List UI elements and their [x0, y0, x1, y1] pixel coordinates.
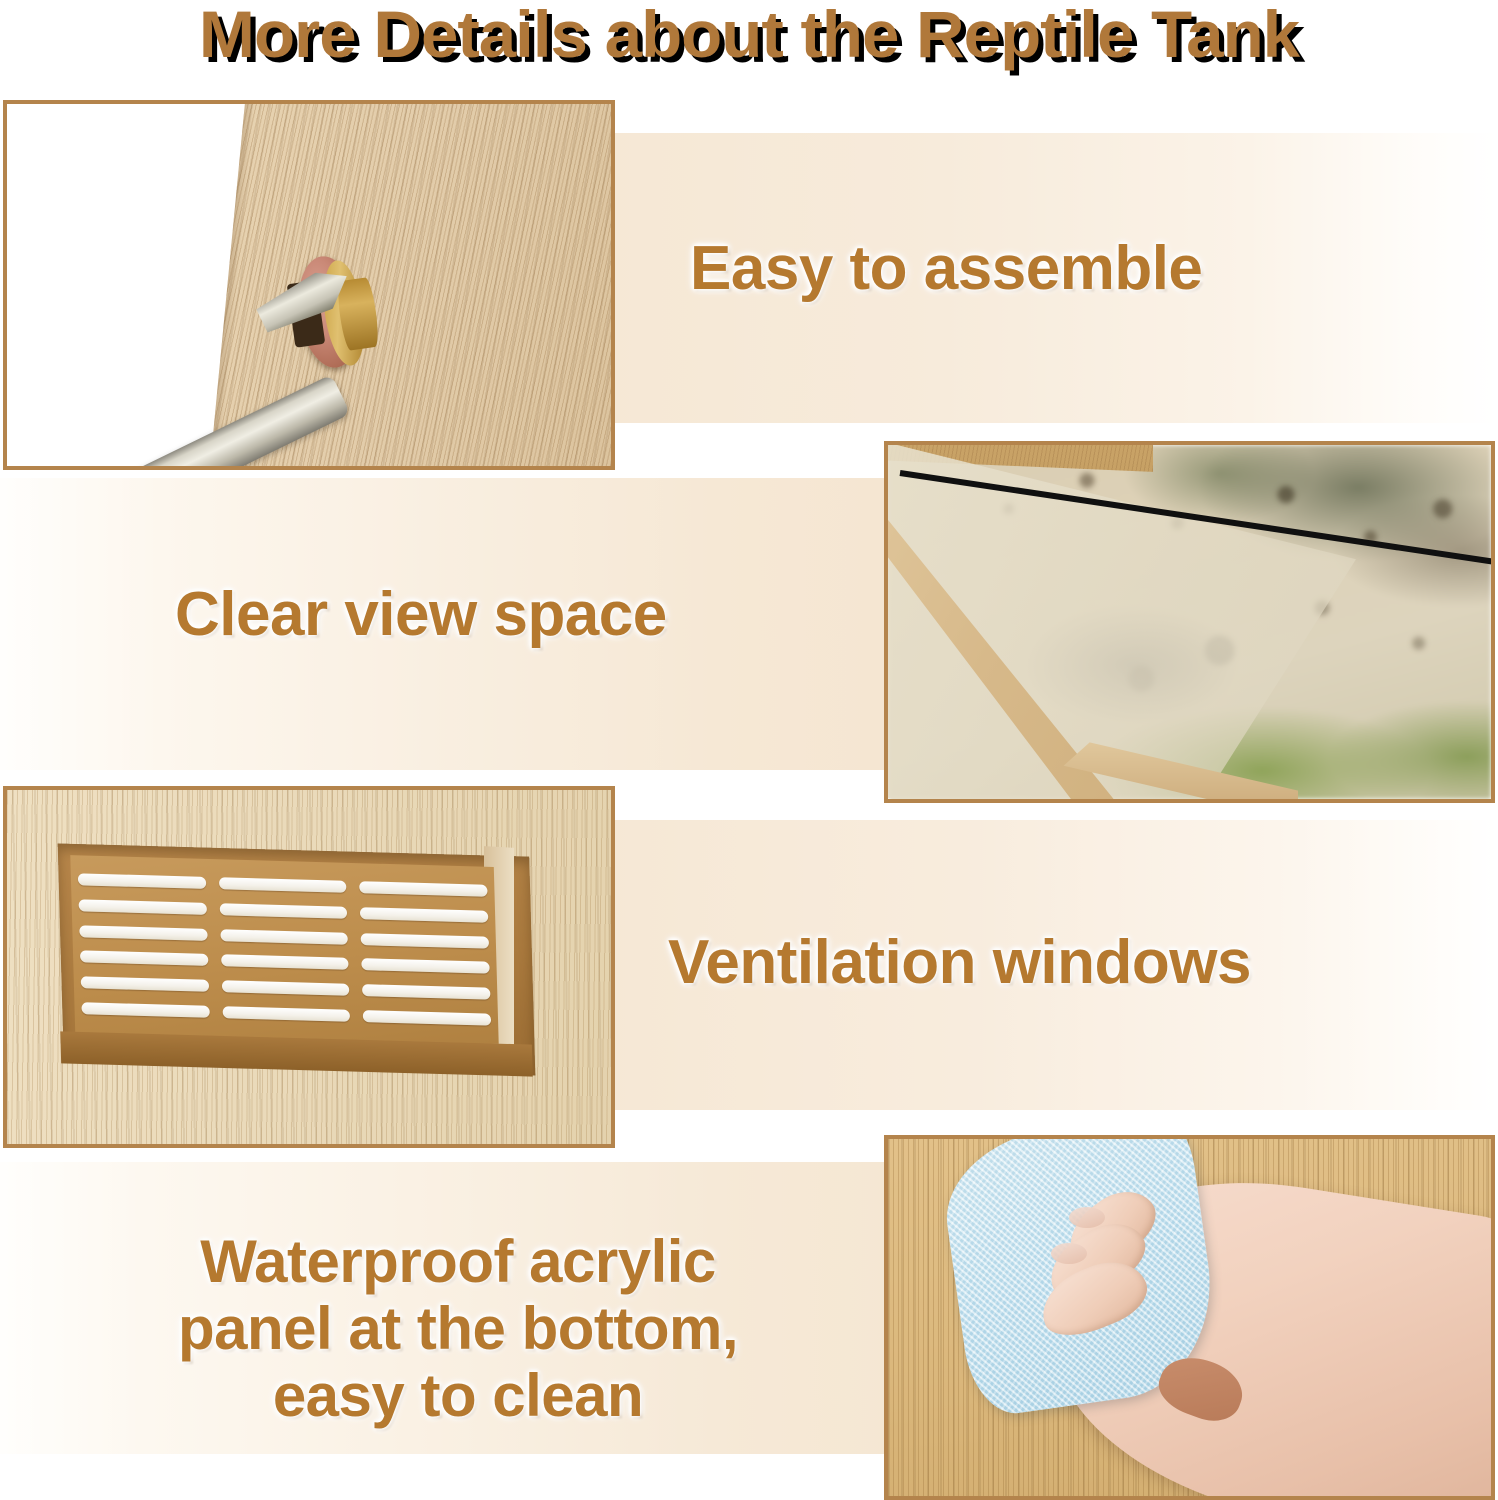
grille-slot [363, 1010, 491, 1026]
grille-slot [220, 903, 348, 919]
grille-slot [360, 881, 488, 897]
photo-screwdriver-in-screw [3, 100, 615, 470]
grille-column [359, 873, 491, 1034]
fingernail [1051, 1243, 1087, 1264]
photo-hand-wiping-panel [884, 1135, 1495, 1500]
grille-slot [81, 976, 209, 992]
grille-slot [79, 899, 207, 915]
grille-slot [221, 929, 349, 945]
grille-slot [78, 873, 206, 889]
photo-ventilation-grille [3, 786, 615, 1148]
grille-slot [221, 954, 349, 970]
grille-slot [361, 932, 489, 948]
grille-slot [362, 958, 490, 974]
caption-line-2: panel at the bottom, [88, 1295, 828, 1362]
infographic-page: More Details about the Reptile Tank [0, 0, 1498, 1500]
grille-slot [223, 1006, 351, 1022]
grille-column [78, 865, 210, 1026]
grille-slot [80, 925, 208, 941]
grille-slot [363, 984, 491, 1000]
grille-slot [219, 877, 347, 893]
grille-slot [360, 907, 488, 923]
caption-line-3: easy to clean [88, 1362, 828, 1429]
grille-plate [71, 855, 499, 1044]
caption-clear-view-space: Clear view space [175, 582, 667, 648]
grille-slot [81, 950, 209, 966]
grille-slot [82, 1002, 210, 1018]
caption-waterproof-acrylic-panel: Waterproof acrylic panel at the bottom, … [88, 1228, 828, 1430]
caption-easy-to-assemble: Easy to assemble [690, 236, 1202, 302]
photo-acrylic-clear-view [884, 441, 1495, 803]
caption-ventilation-windows: Ventilation windows [668, 930, 1251, 996]
fingernail [1069, 1207, 1105, 1228]
grille-slot [222, 980, 350, 996]
page-title: More Details about the Reptile Tank [0, 0, 1498, 72]
grille-column [219, 869, 351, 1030]
caption-line-1: Waterproof acrylic [88, 1228, 828, 1295]
